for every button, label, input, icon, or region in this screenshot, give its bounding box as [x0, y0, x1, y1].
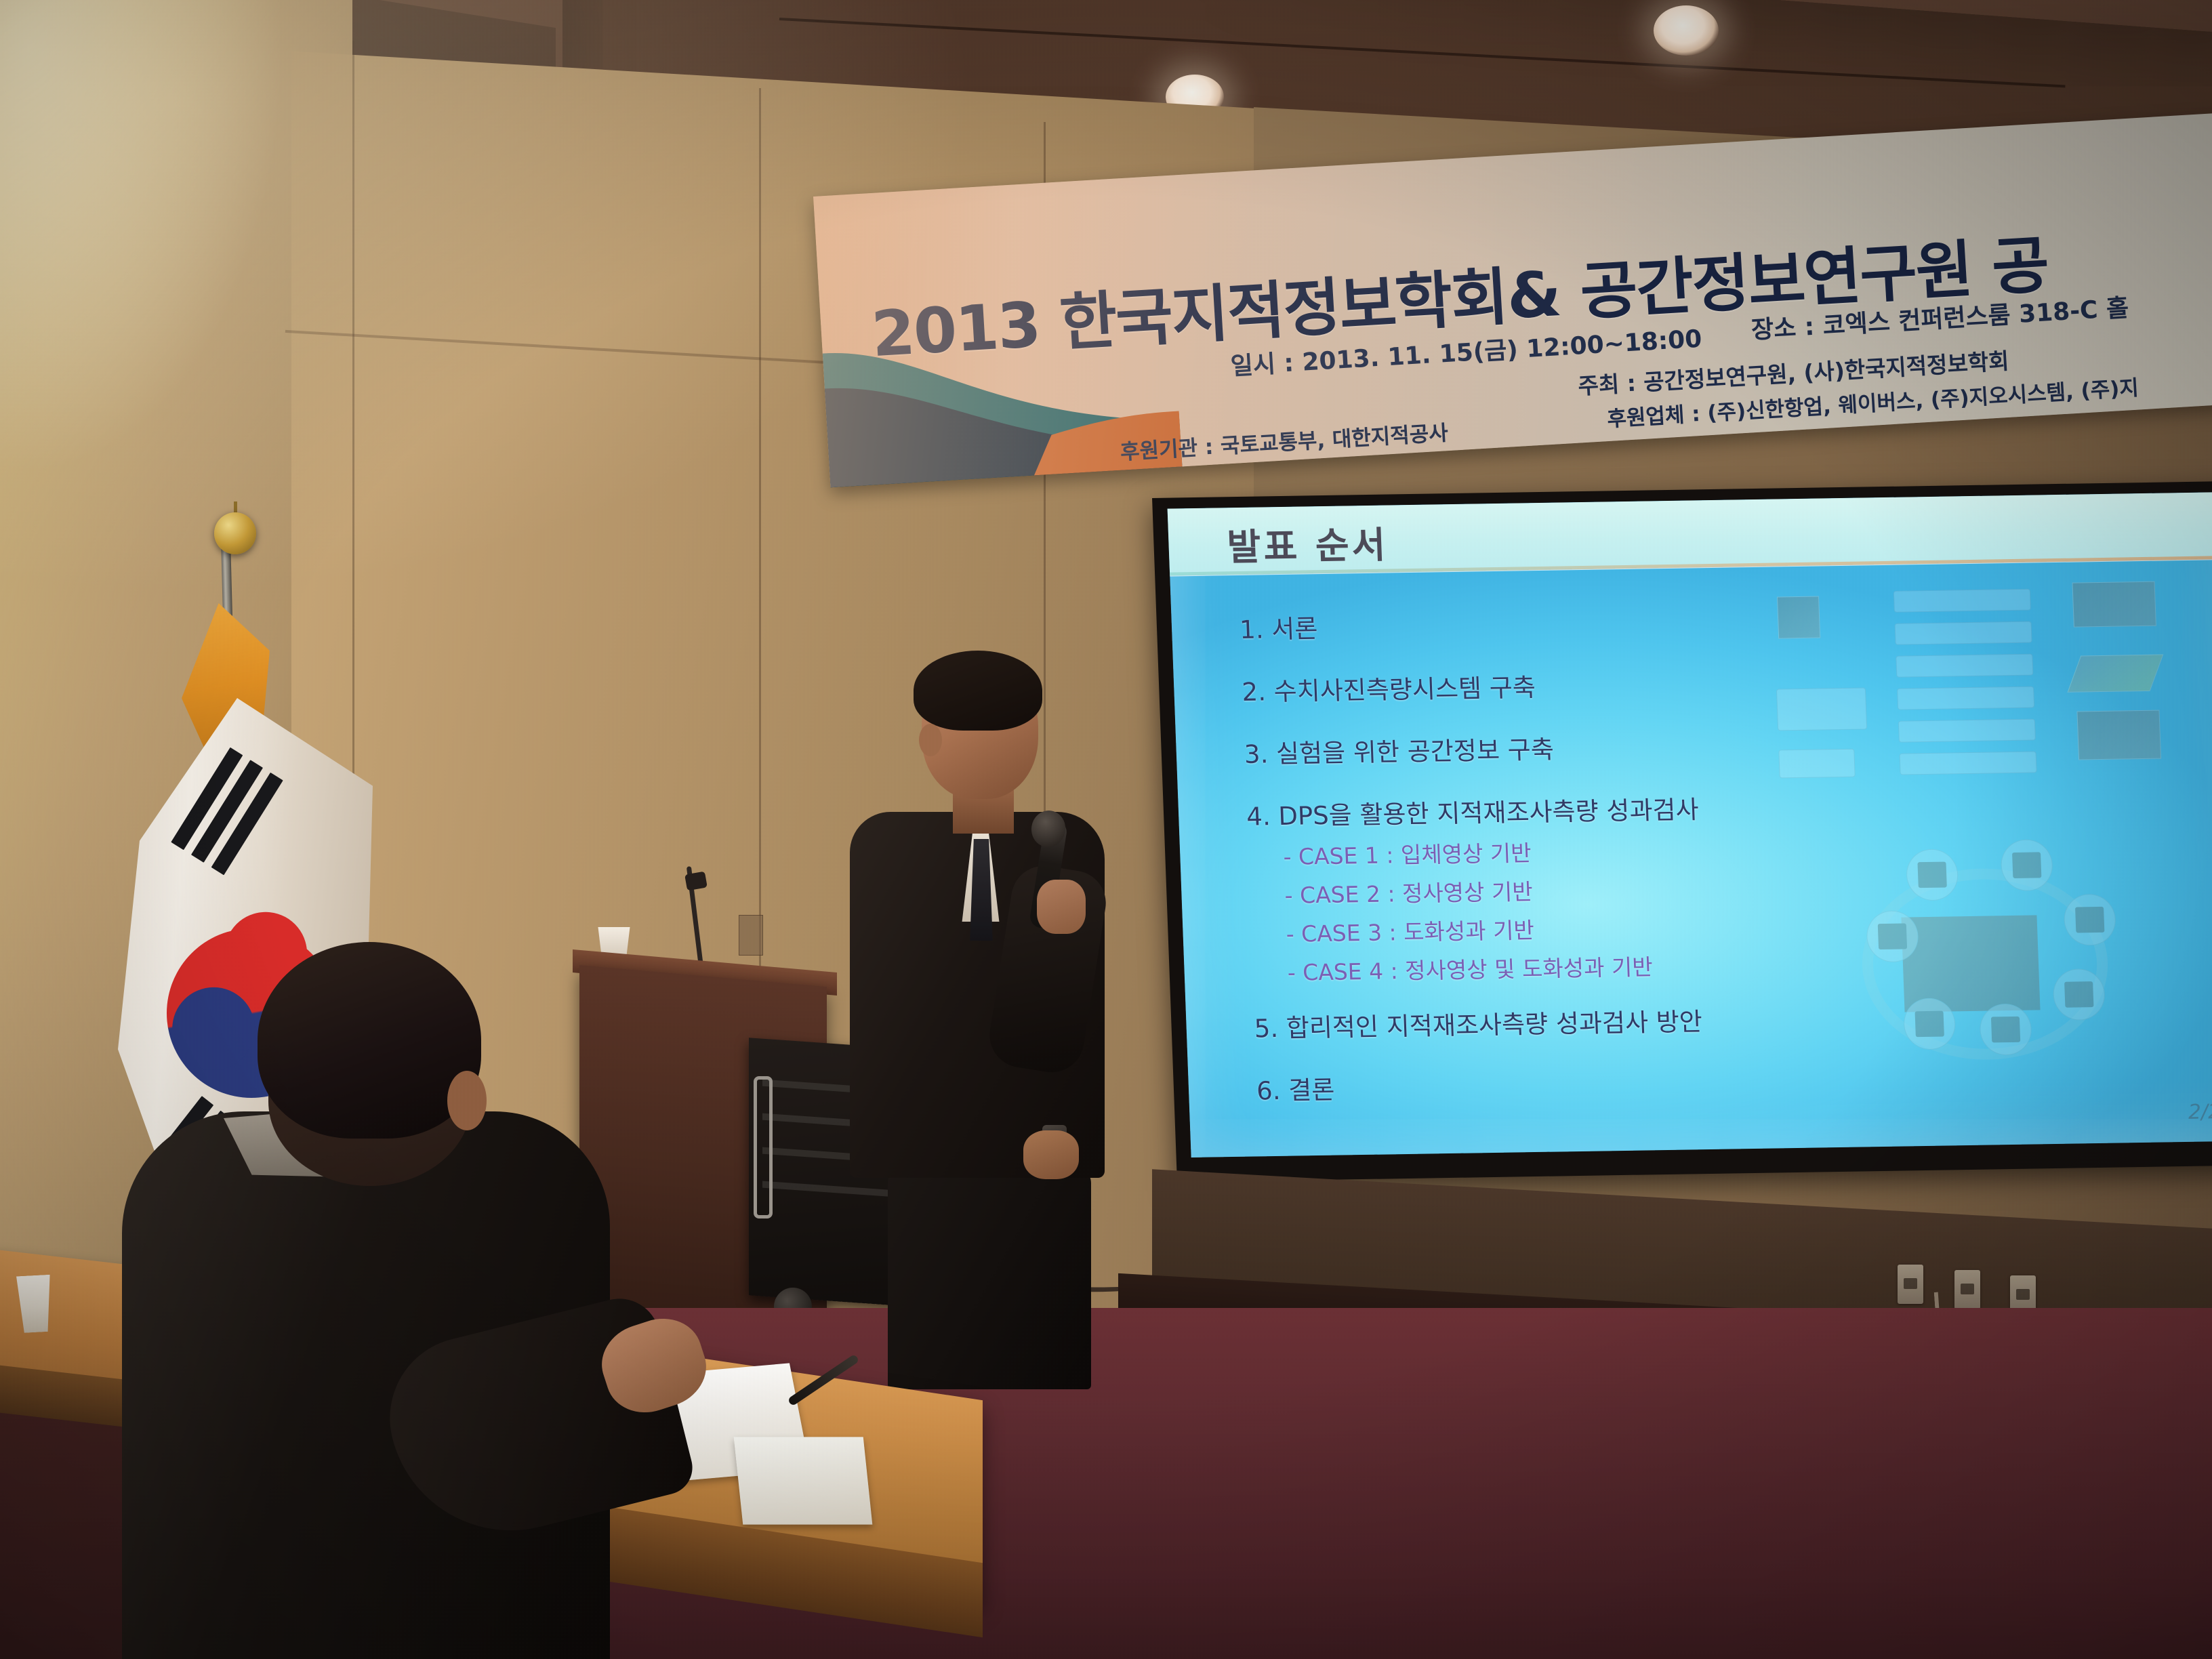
- projection-screen-frame: 발표 순서 1. 서론 2. 수치사진측량시스템 구축 3. 실험을 위한 공간…: [1152, 481, 2212, 1183]
- downlight-icon: [1654, 5, 1719, 56]
- wall-light-glow: [0, 0, 285, 474]
- presenter-ear: [919, 724, 942, 756]
- list-item: 6. 결론: [1256, 1062, 1786, 1107]
- diagram-table: [1776, 687, 1867, 731]
- flow-step-box: [1896, 654, 2033, 678]
- list-item: - CASE 1 : 입체영상 기반: [1283, 831, 1778, 871]
- diagram-thumbnail: [2072, 581, 2156, 628]
- microphone-icon: [684, 872, 708, 891]
- list-item: 3. 실험을 위한 공간정보 구축: [1244, 726, 1774, 771]
- list-item: 1. 서론: [1239, 601, 1769, 646]
- presenter-hand: [1023, 1130, 1079, 1179]
- slide-case-sublist: - CASE 1 : 입체영상 기반 - CASE 2 : 정사영상 기반 - …: [1248, 831, 1782, 987]
- presenter: [834, 651, 1118, 1396]
- diagram-terrain-thumbnail: [2068, 655, 2164, 693]
- slide-page-indicator: 2/27: [2188, 1100, 2212, 1124]
- flow-step-box: [1900, 751, 2037, 775]
- list-item: - CASE 4 : 정사영상 및 도화성과 기반: [1287, 947, 1782, 987]
- wall-outlet: [1898, 1265, 1923, 1304]
- list-item: 2. 수치사진측량시스템 구축: [1241, 663, 1771, 708]
- flow-step-box: [1898, 719, 2036, 743]
- diagram-thumbnail: [2076, 710, 2161, 760]
- flow-step-box: [1893, 589, 2031, 613]
- attendee-ear: [447, 1071, 487, 1130]
- flow-step-box: [1897, 687, 2034, 710]
- flow-step-box: [1895, 621, 2032, 645]
- slide-background-diagram: [1767, 573, 2212, 1136]
- list-item: 5. 합리적인 지적재조사측량 성과검사 방안: [1254, 1000, 1784, 1044]
- diagram-chart: [1778, 749, 1856, 779]
- presenter-legs: [888, 1166, 1091, 1389]
- presenter-hair: [914, 651, 1042, 731]
- projection-screen: 발표 순서 1. 서론 2. 수치사진측량시스템 구축 3. 실험을 위한 공간…: [1168, 492, 2212, 1158]
- list-item: 4. DPS을 활용한 지적재조사측량 성과검사: [1246, 788, 1776, 833]
- flagpole-finial: [214, 512, 256, 554]
- conference-room-photo: 2013 한국지적정보학회& 공간정보연구원 공 일시 : 2013. 11. …: [0, 0, 2212, 1659]
- list-item: - CASE 2 : 정사영상 기반: [1284, 869, 1779, 909]
- presenter-hand: [1037, 880, 1086, 934]
- diagram-thumbnail: [1777, 596, 1820, 639]
- diagram-center-illustration: [1901, 915, 2040, 1012]
- seated-attendee: [68, 942, 786, 1659]
- slide-title: 발표 순서: [1226, 515, 1389, 571]
- slide-agenda-list: 1. 서론 2. 수치사진측량시스템 구축 3. 실험을 위한 공간정보 구축 …: [1239, 601, 1786, 1133]
- list-item: - CASE 3 : 도화성과 기반: [1286, 908, 1780, 948]
